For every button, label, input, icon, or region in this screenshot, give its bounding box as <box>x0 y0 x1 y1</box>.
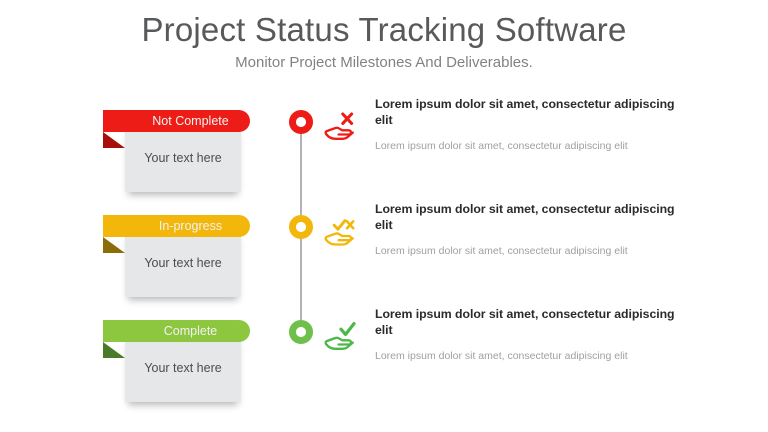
status-ribbon[interactable]: Not Complete <box>103 110 250 132</box>
status-body-text: Lorem ipsum dolor sit amet, consectetur … <box>375 349 677 364</box>
status-row: Not Complete Your text here <box>0 105 768 210</box>
status-body-text: Lorem ipsum dolor sit amet, consectetur … <box>375 244 677 259</box>
slide-header: Project Status Tracking Software Monitor… <box>0 10 768 74</box>
status-card[interactable]: Not Complete Your text here <box>103 105 263 205</box>
timeline-marker-center <box>296 222 306 232</box>
slide-canvas: Project Status Tracking Software Monitor… <box>0 0 768 432</box>
status-text-block: Lorem ipsum dolor sit amet, consectetur … <box>375 201 677 259</box>
hand-with-cross-icon <box>318 105 362 149</box>
status-row: Complete Your text here Lorem i <box>0 315 768 420</box>
status-ribbon-label: Complete <box>136 320 218 342</box>
status-ribbon-label: Not Complete <box>124 110 228 132</box>
status-card-placeholder-text: Your text here <box>144 150 221 166</box>
status-card-body[interactable]: Your text here <box>125 334 241 402</box>
status-card-placeholder-text: Your text here <box>144 360 221 376</box>
status-card-body[interactable]: Your text here <box>125 124 241 192</box>
ribbon-fold <box>103 237 125 253</box>
status-card[interactable]: Complete Your text here <box>103 315 263 415</box>
status-ribbon-label: In-progress <box>131 215 222 237</box>
page-title: Project Status Tracking Software <box>0 10 768 50</box>
ribbon-fold <box>103 132 125 148</box>
status-heading: Lorem ipsum dolor sit amet, consectetur … <box>375 96 677 128</box>
status-ribbon[interactable]: Complete <box>103 320 250 342</box>
status-card-placeholder-text: Your text here <box>144 255 221 271</box>
timeline-marker-center <box>296 117 306 127</box>
status-text-block: Lorem ipsum dolor sit amet, consectetur … <box>375 306 677 364</box>
hand-with-check-icon <box>318 315 362 359</box>
status-heading: Lorem ipsum dolor sit amet, consectetur … <box>375 201 677 233</box>
timeline-marker[interactable] <box>289 320 313 344</box>
status-ribbon[interactable]: In-progress <box>103 215 250 237</box>
status-card-body[interactable]: Your text here <box>125 229 241 297</box>
status-text-block: Lorem ipsum dolor sit amet, consectetur … <box>375 96 677 154</box>
status-row: In-progress Your text here <box>0 210 768 315</box>
hand-with-check-and-cross-icon <box>318 210 362 254</box>
ribbon-fold <box>103 342 125 358</box>
page-subtitle: Monitor Project Milestones And Deliverab… <box>0 52 768 74</box>
timeline-marker-center <box>296 327 306 337</box>
timeline-marker[interactable] <box>289 110 313 134</box>
status-card[interactable]: In-progress Your text here <box>103 210 263 310</box>
timeline-marker[interactable] <box>289 215 313 239</box>
status-heading: Lorem ipsum dolor sit amet, consectetur … <box>375 306 677 338</box>
status-body-text: Lorem ipsum dolor sit amet, consectetur … <box>375 139 677 154</box>
